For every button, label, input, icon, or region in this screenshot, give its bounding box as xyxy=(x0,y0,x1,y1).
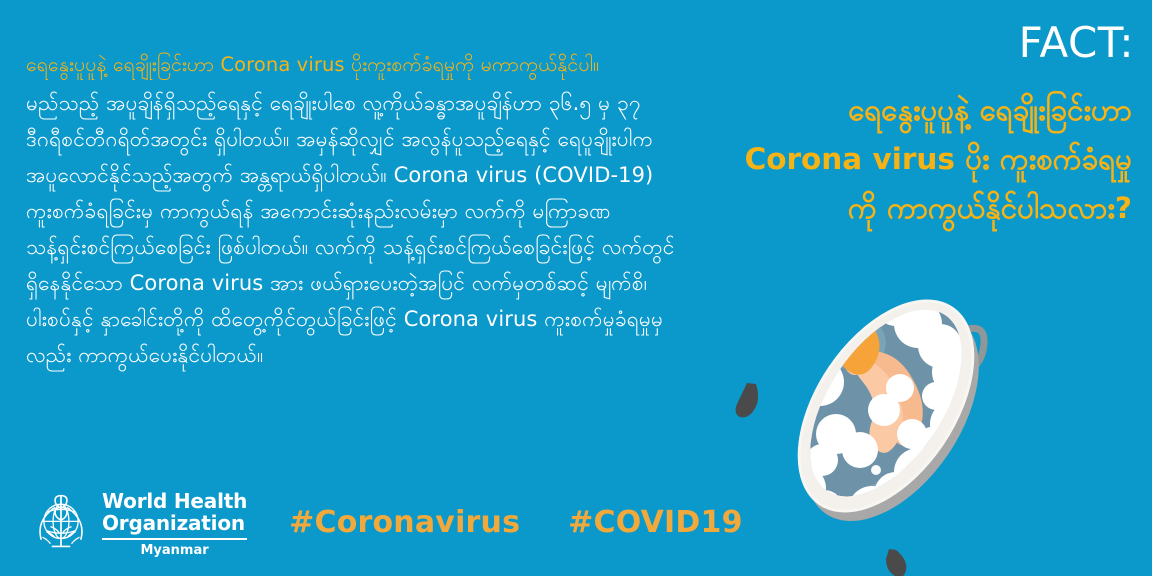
who-emblem-icon xyxy=(28,491,94,557)
who-line-1: World Health xyxy=(102,490,247,512)
left-text-column: ရေနွေးပူပူနဲ့ ရေချိုးခြင်းဟာ Corona viru… xyxy=(26,48,676,373)
bathtub-svg xyxy=(700,248,1152,576)
hashtag-coronavirus[interactable]: #Coronavirus xyxy=(289,505,520,540)
headline-line-3: ကို ကာကွယ်နိုင်ပါသလား? xyxy=(662,184,1132,233)
who-logo: World Health Organization Myanmar xyxy=(28,490,247,558)
headline-line-1: ရေနွေးပူပူနဲ့ ရေချိုးခြင်းဟာ xyxy=(662,86,1132,135)
body-paragraph: မည်သည့် အပူချိန်ရှိသည့်ရေနှင့် ရေချိုးပါ… xyxy=(26,85,676,373)
who-line-2: Organization xyxy=(102,512,247,534)
hashtag-group: #Coronavirus #COVID19 xyxy=(289,505,743,544)
lead-paragraph: ရေနွေးပူပူနဲ့ ရေချိုးခြင်းဟာ Corona viru… xyxy=(26,48,676,81)
bathtub-illustration xyxy=(700,248,1152,576)
hashtag-covid19[interactable]: #COVID19 xyxy=(568,505,742,540)
who-wordmark: World Health Organization Myanmar xyxy=(102,490,247,558)
poster-canvas: ရေနွေးပူပူနဲ့ ရေချိုးခြင်းဟာ Corona viru… xyxy=(0,0,1152,576)
who-rule xyxy=(102,538,247,540)
who-country: Myanmar xyxy=(102,543,247,558)
headline-line-2: Corona virus ပိုး ကူးစက်ခံရမှု xyxy=(662,135,1132,184)
fact-label: FACT: xyxy=(1019,20,1134,66)
headline: ရေနွေးပူပူနဲ့ ရေချိုးခြင်းဟာ Corona viru… xyxy=(662,86,1132,233)
footer: World Health Organization Myanmar #Coron… xyxy=(28,490,743,558)
